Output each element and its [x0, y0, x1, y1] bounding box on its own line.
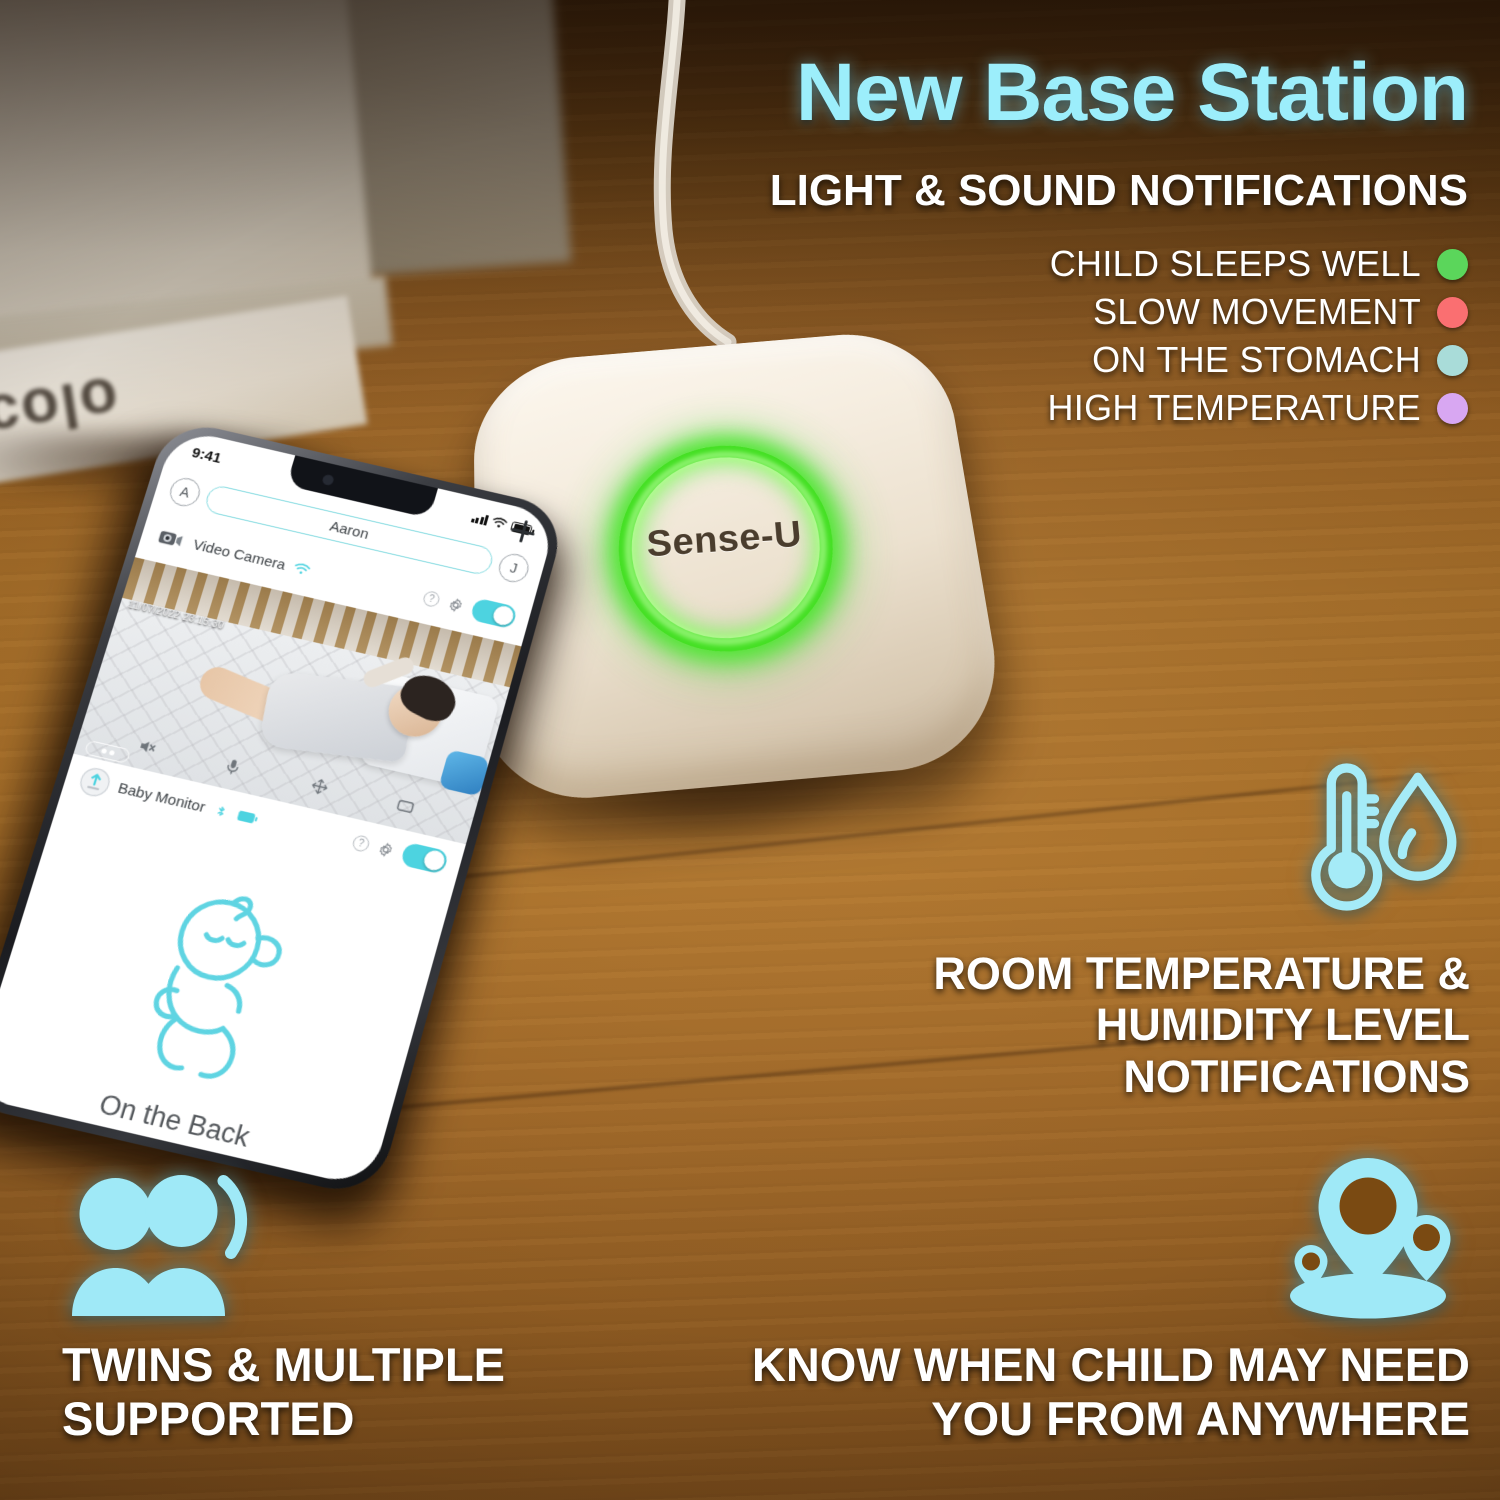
location-pin-icon	[1278, 1152, 1458, 1332]
notification-row: ON THE STOMACH	[988, 336, 1468, 384]
camera-icon	[152, 522, 189, 556]
caption-line: ROOM TEMPERATURE &	[770, 948, 1470, 999]
caption-line: YOU FROM ANYWHERE	[650, 1392, 1470, 1446]
notification-row: HIGH TEMPERATURE	[988, 384, 1468, 432]
gear-icon[interactable]	[445, 595, 466, 614]
caption-line: SUPPORTED	[62, 1392, 622, 1446]
sleeping-baby-icon	[81, 859, 343, 1121]
caption-line: HUMIDITY LEVEL NOTIFICATIONS	[770, 999, 1470, 1102]
battery-icon	[236, 809, 259, 825]
status-dot-green	[1437, 249, 1468, 280]
status-dot-purple	[1437, 393, 1468, 424]
notification-label: ON THE STOMACH	[1092, 339, 1421, 381]
notification-label: HIGH TEMPERATURE	[1047, 387, 1421, 429]
help-icon[interactable]: ?	[351, 834, 371, 853]
notification-label: CHILD SLEEPS WELL	[1050, 243, 1421, 285]
avatar-right[interactable]: J	[496, 551, 532, 585]
caption-remote-monitoring: KNOW WHEN CHILD MAY NEEDYOU FROM ANYWHER…	[650, 1338, 1470, 1445]
video-camera-toggle[interactable]	[470, 597, 518, 629]
thermometer-humidity-icon	[1288, 756, 1458, 916]
status-time: 9:41	[190, 444, 223, 466]
front-camera-icon	[321, 474, 334, 486]
pan-icon[interactable]	[308, 775, 332, 797]
microphone-icon[interactable]	[221, 755, 245, 777]
caption-temperature-humidity: ROOM TEMPERATURE &HUMIDITY LEVEL NOTIFIC…	[770, 948, 1470, 1102]
section-title-baby-monitor: Baby Monitor	[116, 779, 207, 815]
wifi-icon	[292, 562, 311, 577]
status-dot-teal	[1437, 345, 1468, 376]
notification-row: CHILD SLEEPS WELL	[988, 240, 1468, 288]
section-title-video-camera: Video Camera	[191, 536, 287, 573]
sensor-icon	[76, 764, 114, 799]
notification-row: SLOW MOVEMENT	[988, 288, 1468, 336]
caption-line: KNOW WHEN CHILD MAY NEED	[650, 1338, 1470, 1392]
avatar-left[interactable]: A	[166, 475, 203, 509]
bluetooth-icon	[212, 804, 231, 819]
page-title: New Base Station	[796, 46, 1468, 140]
notification-legend: CHILD SLEEPS WELLSLOW MOVEMENTON THE STO…	[988, 240, 1468, 432]
caption-line: TWINS & MULTIPLE	[62, 1338, 622, 1392]
baby-monitor-toggle[interactable]	[400, 842, 450, 875]
twins-people-icon	[62, 1172, 262, 1322]
gear-icon[interactable]	[375, 839, 396, 859]
mute-icon[interactable]	[135, 735, 159, 757]
signal-icon	[471, 512, 490, 526]
page-subtitle: LIGHT & SOUND NOTIFICATIONS	[770, 166, 1468, 216]
wifi-icon	[491, 516, 508, 530]
help-icon[interactable]: ?	[422, 590, 442, 608]
caption-twins-supported: TWINS & MULTIPLESUPPORTED	[62, 1338, 622, 1445]
notification-label: SLOW MOVEMENT	[1093, 291, 1421, 333]
status-dot-red	[1437, 297, 1468, 328]
snapshot-icon[interactable]	[394, 795, 418, 817]
